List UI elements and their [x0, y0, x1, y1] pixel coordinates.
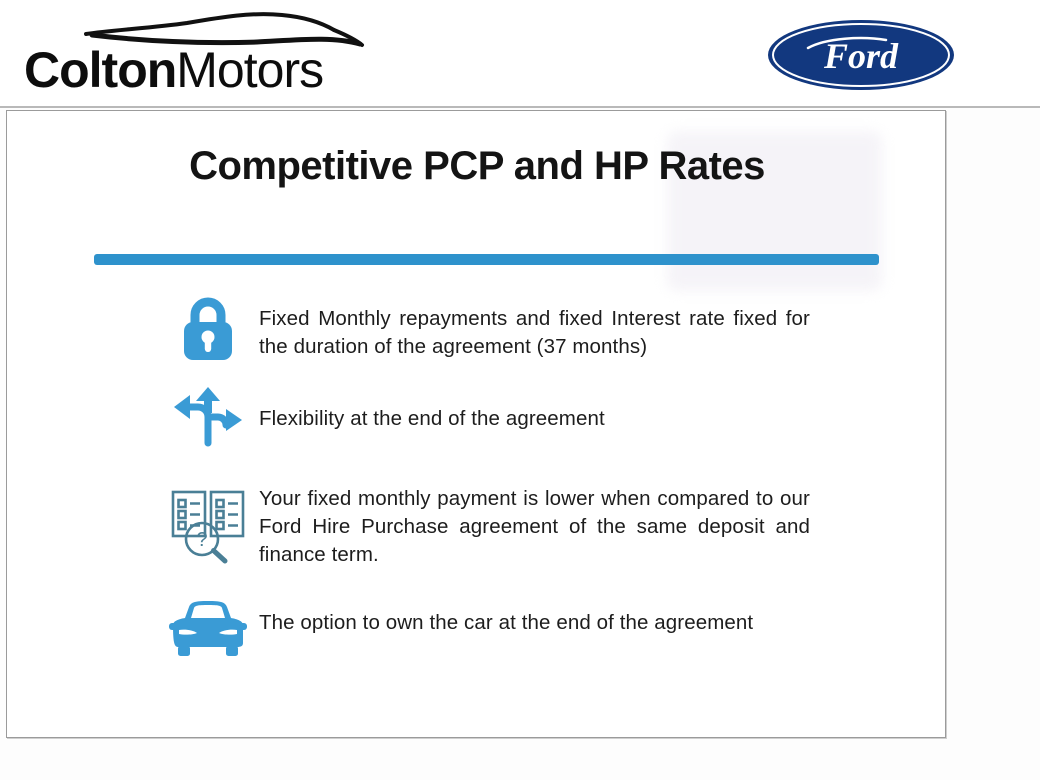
list-item-label: Flexibility at the end of the agreement	[259, 387, 810, 433]
brand-name-bold: Colton	[24, 42, 176, 98]
list-item: Fixed Monthly repayments and fixed Inter…	[7, 293, 946, 365]
page-header: ColtonMotors Ford	[0, 0, 1040, 108]
list-item-label: Fixed Monthly repayments and fixed Inter…	[259, 293, 810, 361]
document-comparison-search-icon: ?	[165, 481, 251, 565]
list-item-label: Your fixed monthly payment is lower when…	[259, 481, 810, 569]
list-item: The option to own the car at the end of …	[7, 591, 946, 663]
ford-oval-logo[interactable]: Ford	[766, 18, 956, 92]
brand-wordmark: ColtonMotors	[24, 40, 384, 100]
list-item: ? Your fixed monthly payment is lower wh…	[7, 481, 946, 569]
feature-list: Fixed Monthly repayments and fixed Inter…	[7, 291, 946, 685]
list-item: Flexibility at the end of the agreement	[7, 387, 946, 459]
three-way-arrow-icon	[165, 387, 251, 449]
colton-motors-logo[interactable]: ColtonMotors	[24, 6, 384, 102]
car-front-icon	[165, 591, 251, 659]
list-item-label: The option to own the car at the end of …	[259, 591, 810, 637]
padlock-icon	[165, 293, 251, 363]
slide-card: Competitive PCP and HP Rates Fixed Month…	[6, 110, 946, 738]
page-title: Competitive PCP and HP Rates	[67, 139, 887, 193]
svg-text:?: ?	[196, 529, 207, 551]
svg-text:Ford: Ford	[823, 36, 899, 76]
brand-name-light: Motors	[176, 42, 323, 98]
title-accent-rule	[94, 254, 879, 265]
